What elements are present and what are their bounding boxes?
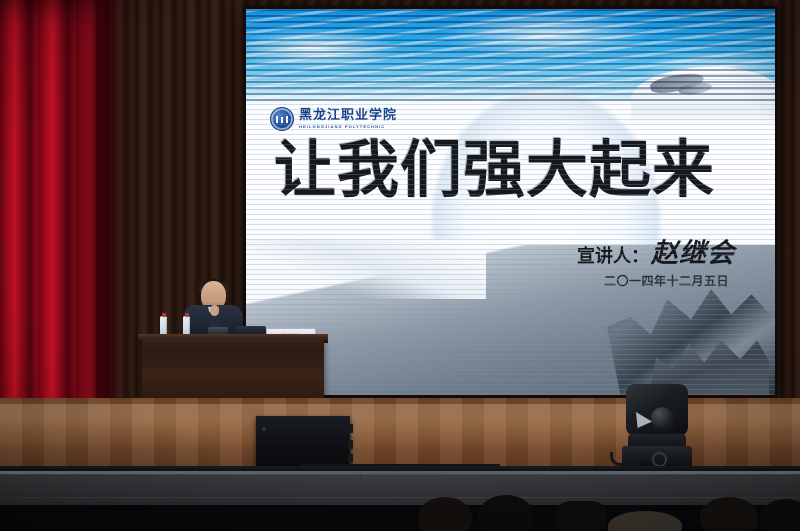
slide-date: 二〇一四年十二月五日 xyxy=(604,272,729,289)
light-power-cable xyxy=(610,452,637,466)
speaker-hand xyxy=(210,305,219,316)
slide-title: 让我们强大起来 xyxy=(274,139,754,201)
audience-head xyxy=(556,501,606,531)
stage-monitor-speaker xyxy=(256,416,350,469)
institution-logo: 黑龙江职业学院 HEILONGJIANG POLYTECHNIC xyxy=(270,107,397,131)
institution-name-en: HEILONGJIANG POLYTECHNIC xyxy=(299,124,397,129)
speaker-label: 宣讲人： xyxy=(577,242,649,268)
audience-head xyxy=(418,497,472,531)
slide-slope-highlight xyxy=(246,239,486,299)
red-stage-curtain xyxy=(0,0,110,452)
stage-apron-trim xyxy=(0,471,800,474)
light-lens xyxy=(648,404,676,432)
lecture-hall-scene: 黑龙江职业学院 HEILONGJIANG POLYTECHNIC 让我们强大起来… xyxy=(0,0,800,531)
institution-name-cn: 黑龙江职业学院 xyxy=(299,109,397,122)
university-seal-icon xyxy=(270,107,294,131)
hall-wall-seam xyxy=(0,497,800,498)
speaker-name: 赵继会 xyxy=(651,231,735,270)
hall-wall xyxy=(0,475,800,509)
slide-speaker-line: 宣讲人： 赵继会 xyxy=(577,231,735,270)
light-head xyxy=(626,384,688,436)
audience-head xyxy=(700,497,758,531)
moving-head-stage-light xyxy=(620,382,694,468)
audience-row xyxy=(0,475,800,531)
speaker-table xyxy=(142,338,324,404)
audience-head xyxy=(478,495,534,531)
curtain-shadow xyxy=(96,0,130,440)
